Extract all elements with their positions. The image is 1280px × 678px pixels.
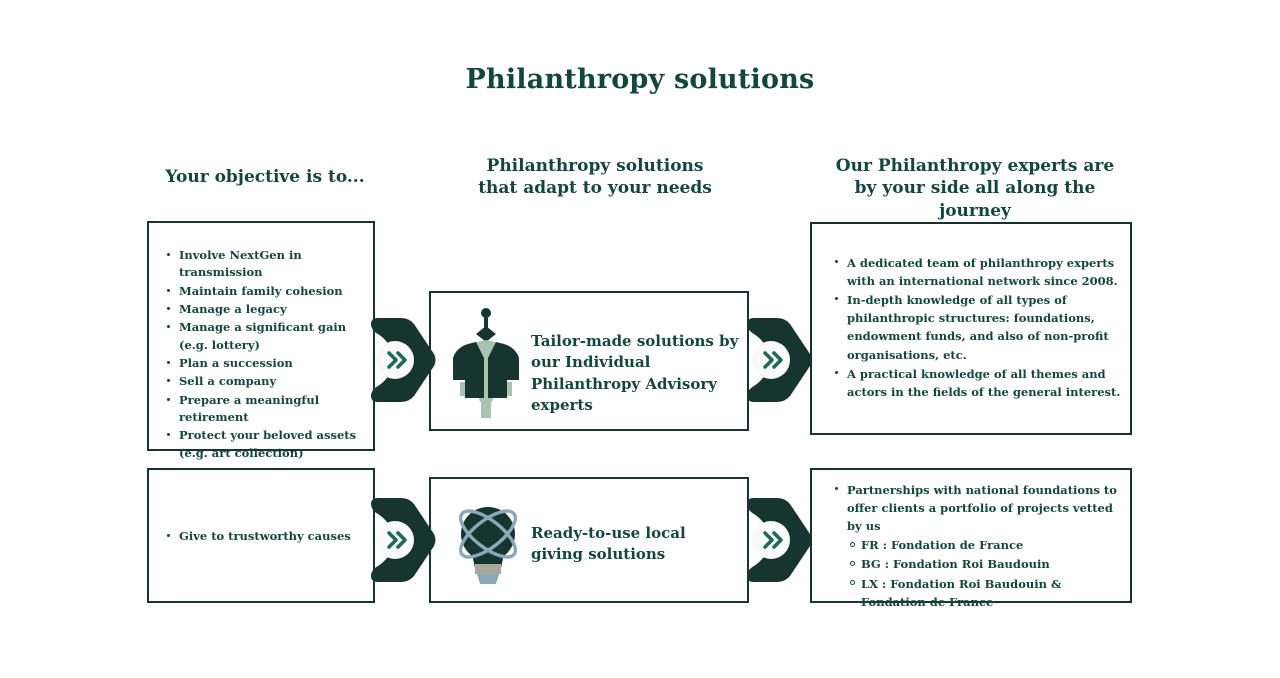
list-item: Manage a legacy: [165, 301, 370, 318]
list-item: Give to trustworthy causes: [165, 528, 370, 545]
list-item: In-depth knowledge of all types of phila…: [833, 291, 1123, 364]
list-sub-item: LX : Fondation Roi Baudouin & Fondation …: [833, 575, 1123, 611]
objective-list-bottom: Give to trustworthy causes: [165, 528, 370, 546]
list-item: Partnerships with national foundations t…: [833, 481, 1123, 535]
column-heading-solutions: Philanthropy solutions that adapt to you…: [450, 155, 740, 200]
objective-list-top: Involve NextGen in transmission Maintain…: [165, 247, 370, 463]
column-heading-experts-line2: by your side all along the journey: [820, 177, 1130, 222]
column-heading-solutions-line2: that adapt to your needs: [450, 177, 740, 199]
column-heading-objective-line1: Your objective is to...: [120, 166, 410, 188]
list-item: Prepare a meaningful retirement: [165, 392, 370, 427]
arrow-objective-to-solution-top: [371, 312, 437, 408]
suit-jacket-icon: [443, 306, 529, 420]
list-item: Involve NextGen in transmission: [165, 247, 370, 282]
solution-caption-bottom: Ready-to-use local giving solutions: [531, 523, 731, 566]
experts-list-top: A dedicated team of philanthropy experts…: [833, 254, 1123, 402]
slide-canvas: Philanthropy solutions Your objective is…: [0, 0, 1280, 678]
page-title: Philanthropy solutions: [0, 64, 1280, 95]
list-item: Plan a succession: [165, 355, 370, 372]
arrow-solution-to-experts-top: [747, 312, 813, 408]
list-item: Protect your beloved assets (e.g. art co…: [165, 427, 370, 462]
arrow-solution-to-experts-bottom: [747, 492, 813, 588]
list-sub-item: FR : Fondation de France: [833, 536, 1123, 554]
solution-caption-top: Tailor-made solutions by our Individual …: [531, 331, 741, 416]
lightbulb-atom-icon: [446, 498, 530, 588]
list-item: A dedicated team of philanthropy experts…: [833, 254, 1123, 290]
list-item: Manage a significant gain (e.g. lottery): [165, 319, 370, 354]
experts-list-bottom: Partnerships with national foundations t…: [833, 481, 1123, 612]
column-heading-solutions-line1: Philanthropy solutions: [450, 155, 740, 177]
list-item: A practical knowledge of all themes and …: [833, 365, 1123, 401]
column-heading-experts-line1: Our Philanthropy experts are: [820, 155, 1130, 177]
arrow-objective-to-solution-bottom: [371, 492, 437, 588]
column-heading-objective: Your objective is to...: [120, 166, 410, 188]
list-sub-item: BG : Fondation Roi Baudouin: [833, 555, 1123, 573]
column-heading-experts: Our Philanthropy experts are by your sid…: [820, 155, 1130, 222]
list-item: Maintain family cohesion: [165, 283, 370, 300]
list-item: Sell a company: [165, 373, 370, 390]
